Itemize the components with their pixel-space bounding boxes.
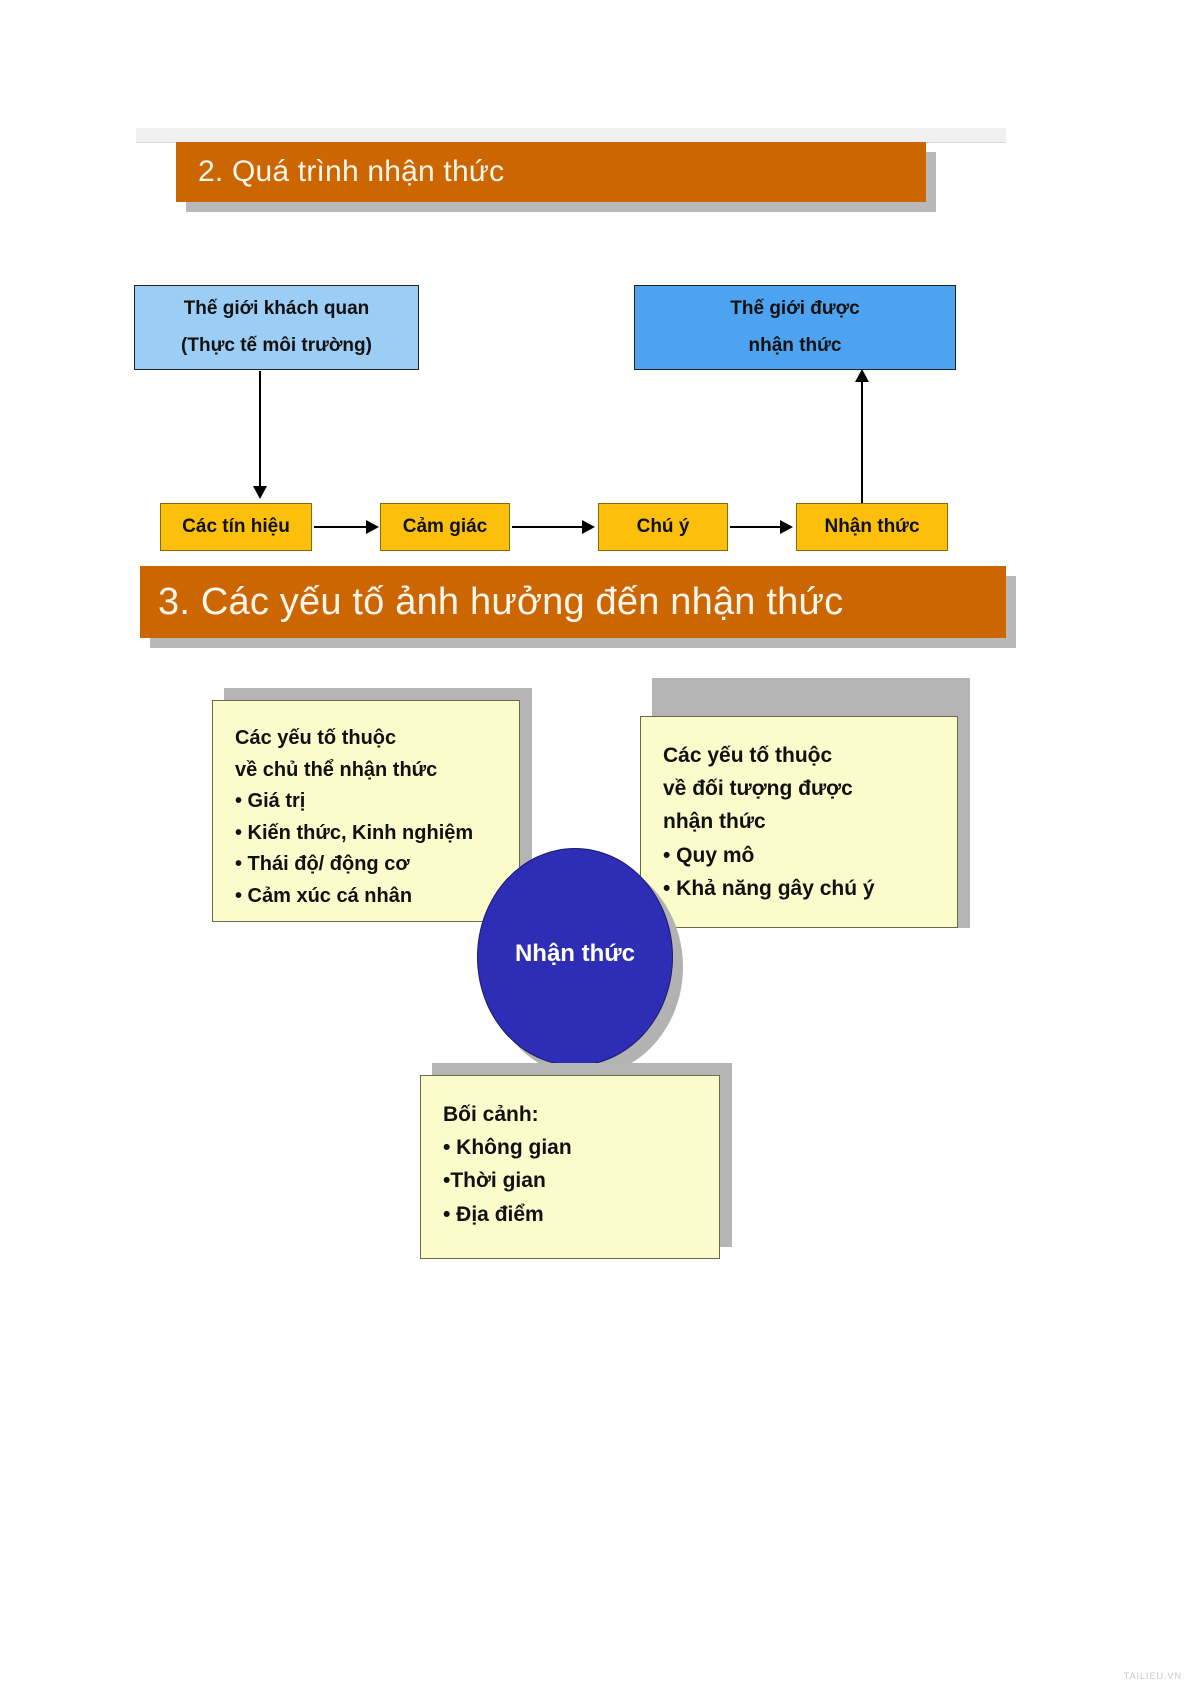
objective-world-line-2: (Thực tế môi trường): [181, 328, 372, 364]
object-card-heading-line-3: nhận thức: [663, 805, 939, 838]
flow-stage-attention: Chú ý: [598, 503, 728, 551]
arrow-signals-to-sensation-head-icon: [366, 520, 379, 534]
subject-card-heading-line-2: về chủ thể nhận thức: [235, 755, 501, 787]
center-circle-label: Nhận thức: [515, 940, 635, 974]
arrow-attention-to-perception-head-icon: [780, 520, 793, 534]
object-card-bullet-2: • Khả năng gây chú ý: [663, 872, 939, 905]
arrow-down-line: [259, 371, 261, 486]
context-card-bullet-3: • Địa điểm: [443, 1198, 701, 1231]
flow-stage-sensation: Cảm giác: [380, 503, 510, 551]
arrow-down-head-icon: [253, 486, 267, 499]
section-3-banner-title: 3. Các yếu tố ảnh hưởng đến nhận thức: [158, 581, 843, 624]
objective-world-line-1: Thế giới khách quan: [184, 291, 370, 327]
section-2-banner-title: 2. Quá trình nhận thức: [198, 155, 504, 189]
slide-canvas: 2. Quá trình nhận thức Thế giới khách qu…: [0, 0, 1192, 1685]
flow-box-perceived-world: Thế giới được nhận thức: [634, 285, 956, 370]
context-card-bullet-2: •Thời gian: [443, 1164, 701, 1197]
subject-card-bullet-4: • Cảm xúc cá nhân: [235, 881, 501, 913]
section-2-banner: 2. Quá trình nhận thức: [176, 142, 926, 202]
arrow-sensation-to-attention-head-icon: [582, 520, 595, 534]
arrow-signals-to-sensation-line: [314, 526, 366, 528]
flow-stage-perception-label: Nhận thức: [824, 516, 919, 538]
arrow-attention-to-perception-line: [730, 526, 780, 528]
object-card-heading-line-2: về đối tượng được: [663, 772, 939, 805]
context-card-bullet-1: • Không gian: [443, 1131, 701, 1164]
subject-card-bullet-1: • Giá trị: [235, 786, 501, 818]
center-circle-perception: Nhận thức: [477, 848, 673, 1066]
banner-backstrip: [136, 128, 1006, 143]
object-card-heading-line-1: Các yếu tố thuộc: [663, 739, 939, 772]
subject-card-heading-line-1: Các yếu tố thuộc: [235, 723, 501, 755]
object-card-bullet-1: • Quy mô: [663, 839, 939, 872]
subject-card-bullet-2: • Kiến thức, Kinh nghiệm: [235, 818, 501, 850]
arrow-sensation-to-attention-line: [512, 526, 582, 528]
flow-stage-signals: Các tín hiệu: [160, 503, 312, 551]
footer-watermark: TAILIEU.VN: [1124, 1671, 1182, 1681]
flow-stage-sensation-label: Cảm giác: [403, 516, 487, 538]
subject-card-bullet-3: • Thái độ/ động cơ: [235, 849, 501, 881]
object-factors-card: Các yếu tố thuộc về đối tượng được nhận …: [640, 716, 958, 928]
subject-factors-card: Các yếu tố thuộc về chủ thể nhận thức • …: [212, 700, 520, 922]
context-card-heading: Bối cảnh:: [443, 1098, 701, 1131]
flow-box-objective-world: Thế giới khách quan (Thực tế môi trường): [134, 285, 419, 370]
arrow-up-line: [861, 372, 863, 503]
perceived-world-line-1: Thế giới được: [730, 291, 859, 327]
flow-stage-signals-label: Các tín hiệu: [182, 516, 290, 538]
context-factors-card: Bối cảnh: • Không gian •Thời gian • Địa …: [420, 1075, 720, 1259]
flow-stage-attention-label: Chú ý: [637, 516, 690, 538]
perceived-world-line-2: nhận thức: [749, 328, 842, 364]
section-3-banner: 3. Các yếu tố ảnh hưởng đến nhận thức: [140, 566, 1006, 638]
flow-stage-perception: Nhận thức: [796, 503, 948, 551]
arrow-up-head-icon: [855, 369, 869, 382]
